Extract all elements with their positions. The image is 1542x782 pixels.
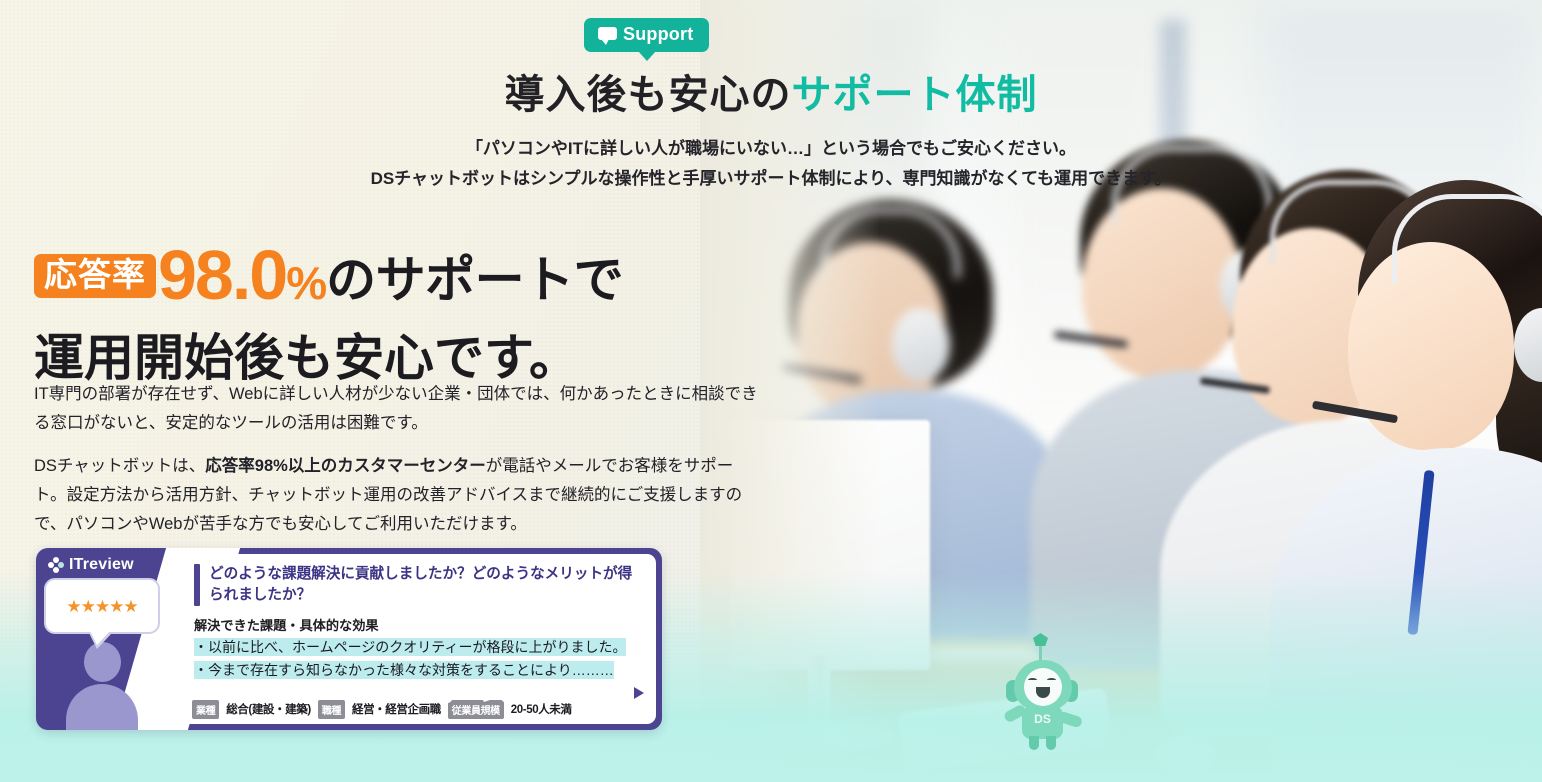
meta-value-industry: 総合(建設・建築)	[226, 701, 311, 717]
claim-tail-text: のサポートで	[326, 240, 623, 312]
question-accent-bar	[194, 564, 200, 606]
support-badge-label: Support	[623, 24, 693, 45]
user-review-cta-button[interactable]: ユーザーレビューを見る	[402, 680, 650, 707]
meta-tag-industry: 業種	[192, 700, 219, 719]
robot-eye-right	[1047, 678, 1056, 682]
claim-row-1: 応答率 98.0% のサポートで	[34, 240, 623, 312]
ds-robot-mascot: DS	[1002, 638, 1082, 750]
review-answer-line-1: ・以前に比べ、ホームページのクオリティーが格段に上がりました。	[194, 638, 642, 656]
review-answer-line-1-text: ・以前に比べ、ホームページのクオリティーが格段に上がりました。	[194, 638, 626, 656]
user-review-cta-label: ユーザーレビューを見る	[402, 680, 615, 707]
user-avatar-icon	[60, 640, 144, 730]
chat-bubble-icon	[598, 27, 617, 43]
review-answer-line-2: ・今まで存在すら知らなかった様々な対策をすることにより………	[194, 661, 642, 679]
headline-claim: 応答率 98.0% のサポートで 運用開始後も安心です。	[34, 240, 623, 390]
claim-number-value: 98.0	[158, 236, 286, 314]
rating-bubble: ★★★★★	[44, 578, 160, 634]
support-badge: Support	[584, 18, 709, 52]
robot-eye-left	[1028, 678, 1037, 682]
itreview-logo: ITreview	[48, 556, 134, 574]
body-paragraph-1: IT専門の部署が存在せず、Webに詳しい人材が少ない企業・団体では、何かあったと…	[34, 380, 764, 438]
section-title-accent: サポート体制	[792, 73, 1038, 117]
headset-earcup	[892, 308, 950, 382]
review-question-row: どのような課題解決に貢献しましたか？どのようなメリットが得られましたか？	[194, 564, 642, 606]
response-rate-pill: 応答率	[34, 254, 156, 298]
itreview-card[interactable]: ITreview ★★★★★ どのような課題解決に貢献しましたか？どのようなメリ…	[36, 548, 662, 730]
claim-number: 98.0%	[158, 242, 326, 309]
body-p2-strong: 応答率98%以上のカスタマーセンター	[205, 457, 486, 475]
itreview-mark-icon	[48, 557, 65, 574]
review-content-panel: どのような課題解決に貢献しましたか？どのようなメリットが得られましたか？ 解決で…	[182, 554, 656, 694]
claim-percent-sign: %	[286, 257, 326, 309]
itreview-card-left: ITreview ★★★★★	[36, 548, 182, 730]
meta-tag-role: 職種	[318, 700, 345, 719]
section-title-lead: 導入後も安心の	[505, 73, 792, 117]
body-p2-part-a: DSチャットボットは、	[34, 457, 205, 475]
robot-leg-left	[1029, 736, 1039, 750]
star-rating: ★★★★★	[66, 598, 137, 615]
section-title: 導入後も安心のサポート体制	[0, 62, 1542, 120]
lede-line-2: DSチャットボットはシンプルな操作性と手厚いサポート体制により、専門知識がなくて…	[0, 164, 1542, 194]
body-paragraph-2: DSチャットボットは、応答率98%以上のカスタマーセンターが電話やメールでお客様…	[34, 452, 764, 539]
play-arrow-icon	[625, 681, 650, 706]
review-question: どのような課題解決に貢献しましたか？どのようなメリットが得られましたか？	[209, 564, 642, 606]
robot-chest-label: DS	[1022, 712, 1063, 726]
headset-icon	[1392, 194, 1542, 284]
lede-line-1: 「パソコンやITに詳しい人が職場にいない…」という場合でもご安心ください。	[0, 134, 1542, 164]
review-answer-title: 解決できた課題・具体的な効果	[194, 615, 642, 634]
badge-tail	[638, 51, 656, 61]
robot-leg-right	[1046, 736, 1056, 750]
itreview-logo-label: ITreview	[69, 556, 134, 574]
body-copy: IT専門の部署が存在せず、Webに詳しい人材が少ない企業・団体では、何かあったと…	[34, 380, 764, 538]
section-lede: 「パソコンやITに詳しい人が職場にいない…」という場合でもご安心ください。 DS…	[0, 134, 1542, 194]
support-section: DS Support 導入後も安心のサポート体制 「パソコンやITに詳しい人が職…	[0, 0, 1542, 782]
review-answer-line-2-text: ・今まで存在すら知らなかった様々な対策をすることにより………	[194, 661, 614, 679]
